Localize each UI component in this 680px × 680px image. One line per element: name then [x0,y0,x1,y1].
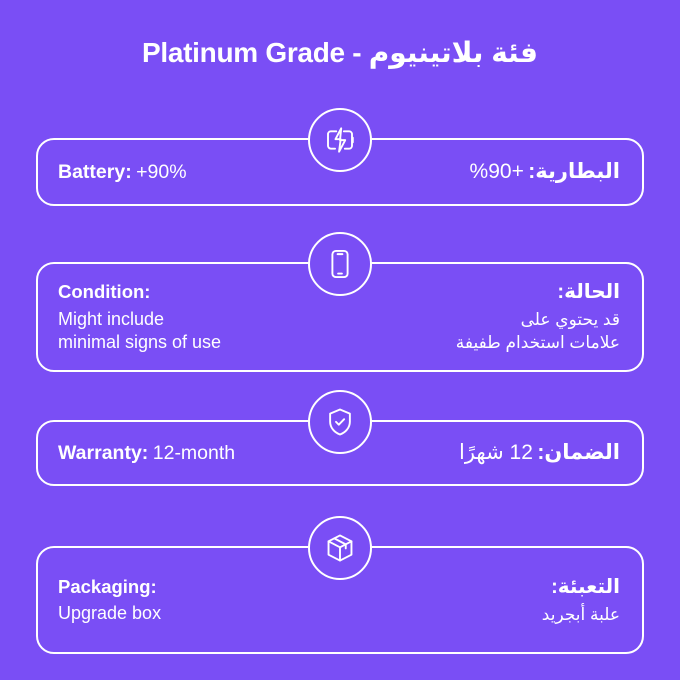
package-box-icon [324,532,356,564]
shield-check-icon [324,406,356,438]
card-condition-ar-label: الحالة: [456,279,620,306]
card-packaging-en-text: Packaging: Upgrade box [58,575,161,626]
card-battery-en-label: Battery: [58,161,132,183]
card-packaging-ar-text: التعبئة: علبة أبجريد [542,574,620,627]
card-condition-en-value: Might include minimal signs of use [58,308,221,354]
card-packaging-en-value-line1: Upgrade box [58,602,161,625]
page-title: Platinum Grade - فئة بلاتينيوم [0,36,680,70]
card-battery-ar-text: البطارية: +90% [470,158,620,186]
card-warranty-en-value: 12-month [153,442,235,464]
card-packaging-en-value: Upgrade box [58,602,161,625]
card-condition-en-text: Condition: Might include minimal signs o… [58,280,221,354]
card-condition-ar-value-line2: علامات استخدام طفيفة [456,332,620,355]
card-condition-en-label: Condition: [58,280,221,304]
infographic-page: Platinum Grade - فئة بلاتينيوم Battery: … [0,0,680,680]
battery-charging-icon-badge [308,108,372,172]
smartphone-icon-badge [308,232,372,296]
card-warranty-ar-text: الضمان: 12 شهرًا [459,439,620,467]
smartphone-icon [324,248,356,280]
card-condition-en-value-line1: Might include [58,308,221,331]
card-battery-ar-value: +90% [470,160,524,183]
card-packaging-ar-value-line1: علبة أبجريد [542,604,620,627]
card-warranty-ar-value: 12 شهرًا [459,441,533,464]
card-battery-en-value: +90% [136,161,186,183]
card-warranty-en-text: Warranty: 12-month [58,441,235,466]
card-condition-en-value-line2: minimal signs of use [58,331,221,354]
card-battery-ar-label: البطارية: [528,160,620,183]
card-packaging-ar-label: التعبئة: [542,574,620,601]
battery-charging-icon [324,124,356,156]
card-condition-ar-value-line1: قد يحتوي على [456,309,620,332]
card-condition-ar-text: الحالة: قد يحتوي على علامات استخدام طفيف… [456,279,620,355]
card-battery-en-text: Battery: +90% [58,160,187,185]
shield-check-icon-badge [308,390,372,454]
card-packaging-ar-value: علبة أبجريد [542,604,620,627]
package-box-icon-badge [308,516,372,580]
card-packaging-en-label: Packaging: [58,575,161,599]
card-warranty-en-label: Warranty: [58,442,148,464]
card-condition-ar-value: قد يحتوي على علامات استخدام طفيفة [456,309,620,355]
card-warranty-ar-label: الضمان: [537,441,620,464]
